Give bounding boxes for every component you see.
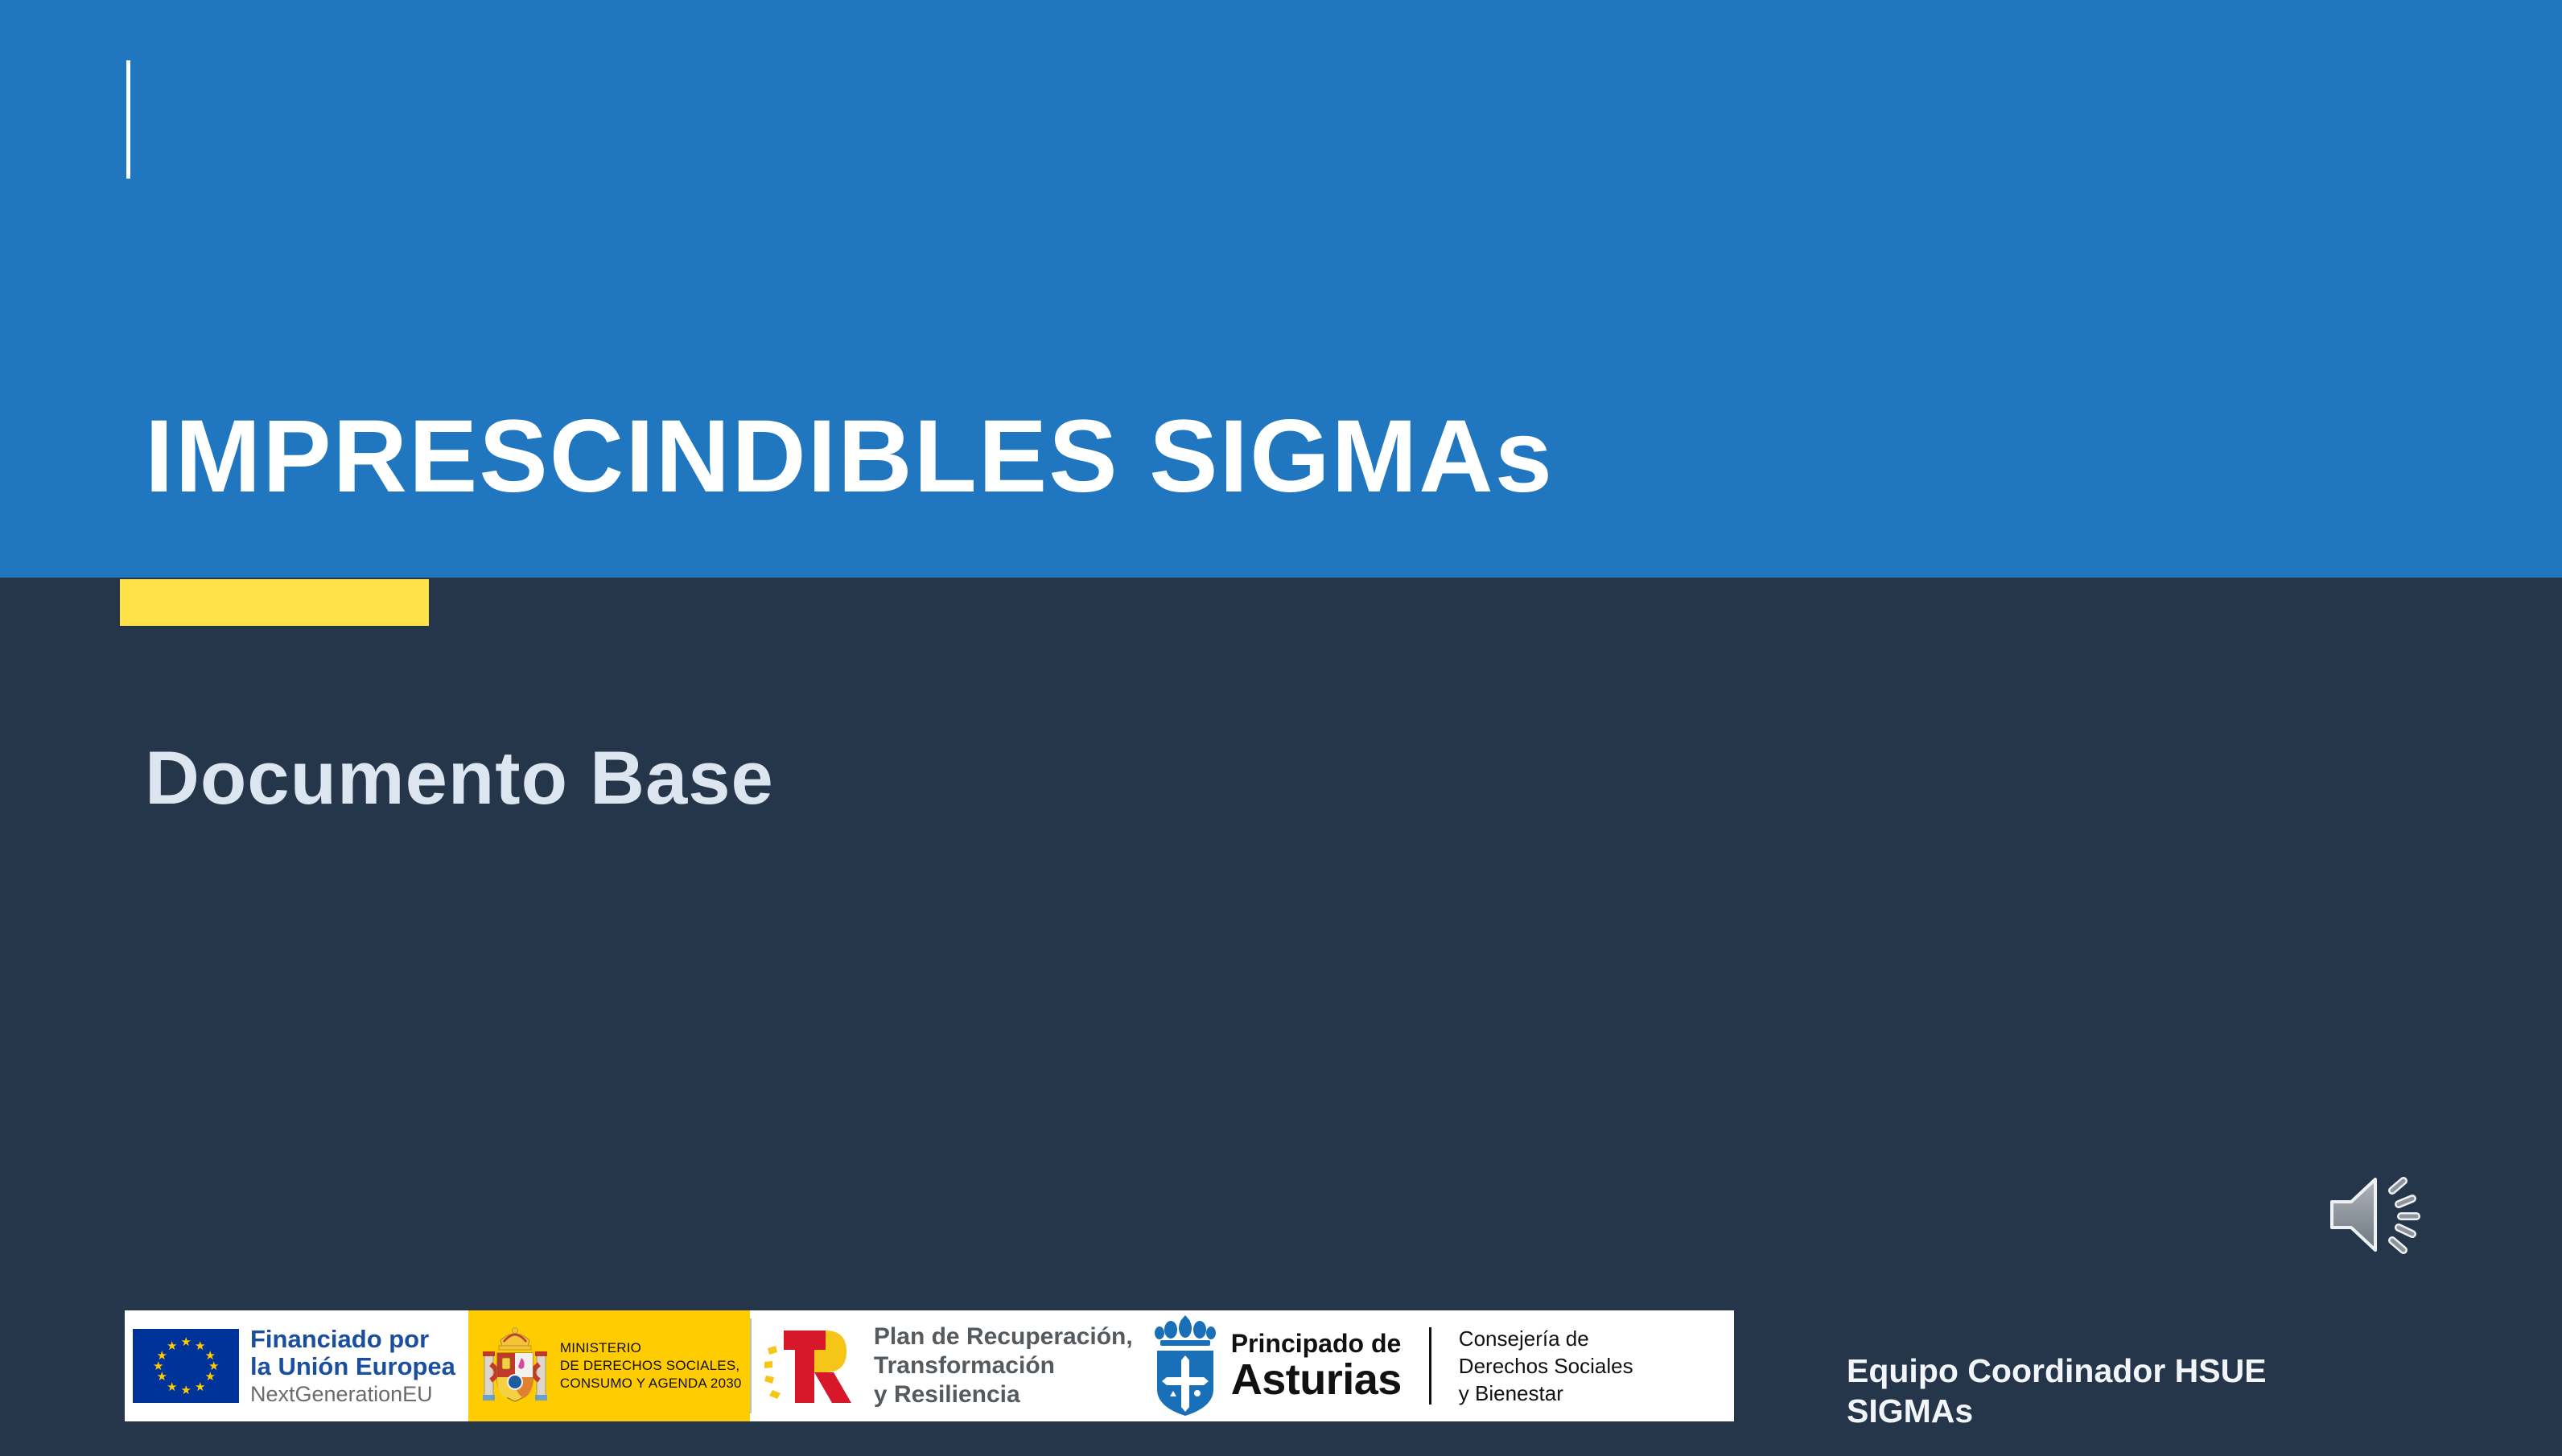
- asturias-divider: [1429, 1327, 1431, 1405]
- funding-logo-strip: ★ ★ ★ ★ ★ ★ ★ ★ ★ ★ ★ ★ Financiado por l…: [125, 1310, 1734, 1421]
- ministry-logo: MINISTERIO DE DERECHOS SOCIALES, CONSUMO…: [468, 1310, 750, 1421]
- eu-text-line-1: Financiado por: [250, 1326, 455, 1353]
- consejeria-line-1: Consejería de: [1459, 1325, 1633, 1352]
- presentation-slide: IMPRESCINDIBLES SIGMAs Documento Base: [0, 0, 2562, 1456]
- eu-flag-icon: ★ ★ ★ ★ ★ ★ ★ ★ ★ ★ ★ ★: [133, 1329, 239, 1403]
- credit-line-1: Equipo Coordinador HSUE: [1847, 1351, 2458, 1391]
- author-credit: Equipo Coordinador HSUE SIGMAs: [1847, 1351, 2458, 1431]
- recovery-plan-logo: Plan de Recuperación, Transformación y R…: [752, 1310, 1133, 1421]
- consejeria-text: Consejería de Derechos Sociales y Bienes…: [1459, 1325, 1633, 1408]
- consejeria-line-3: y Bienestar: [1459, 1380, 1633, 1407]
- spain-coat-of-arms-icon: [476, 1318, 554, 1414]
- title-accent-rule: [126, 60, 130, 179]
- consejeria-line-2: Derechos Sociales: [1459, 1352, 1633, 1380]
- eu-logo-text: Financiado por la Unión Europea NextGene…: [250, 1326, 455, 1407]
- eu-text-line-2: la Unión Europea: [250, 1353, 455, 1380]
- speaker-volume-icon[interactable]: [2324, 1168, 2433, 1261]
- asturias-text-line-2: Asturias: [1231, 1358, 1402, 1401]
- asturias-logo-text: Principado de Asturias: [1231, 1331, 1402, 1401]
- asturias-text-line-1: Principado de: [1231, 1331, 1402, 1356]
- slide-subtitle: Documento Base: [145, 738, 2076, 818]
- ministry-text-line-3: CONSUMO Y AGENDA 2030: [560, 1375, 742, 1392]
- plan-text-line-2: Transformación: [874, 1351, 1133, 1380]
- ministry-logo-text: MINISTERIO DE DERECHOS SOCIALES, CONSUMO…: [560, 1339, 742, 1392]
- tr-monogram-icon: [763, 1319, 864, 1413]
- ministry-text-line-1: MINISTERIO: [560, 1339, 742, 1357]
- recovery-plan-text: Plan de Recuperación, Transformación y R…: [874, 1322, 1133, 1409]
- page-title: IMPRESCINDIBLES SIGMAs: [145, 405, 2237, 508]
- asturias-shield-icon: [1151, 1314, 1220, 1418]
- plan-text-line-3: y Resiliencia: [874, 1380, 1133, 1409]
- eu-funding-logo: ★ ★ ★ ★ ★ ★ ★ ★ ★ ★ ★ ★ Financiado por l…: [125, 1310, 462, 1421]
- plan-text-line-1: Plan de Recuperación,: [874, 1322, 1133, 1351]
- subtitle-accent-bar: [120, 579, 429, 626]
- eu-text-line-3: NextGenerationEU: [250, 1383, 455, 1407]
- credit-line-2: SIGMAs: [1847, 1391, 2458, 1431]
- asturias-government-logo: Principado de Asturias Consejería de Der…: [1133, 1310, 1633, 1421]
- ministry-text-line-2: DE DERECHOS SOCIALES,: [560, 1357, 742, 1375]
